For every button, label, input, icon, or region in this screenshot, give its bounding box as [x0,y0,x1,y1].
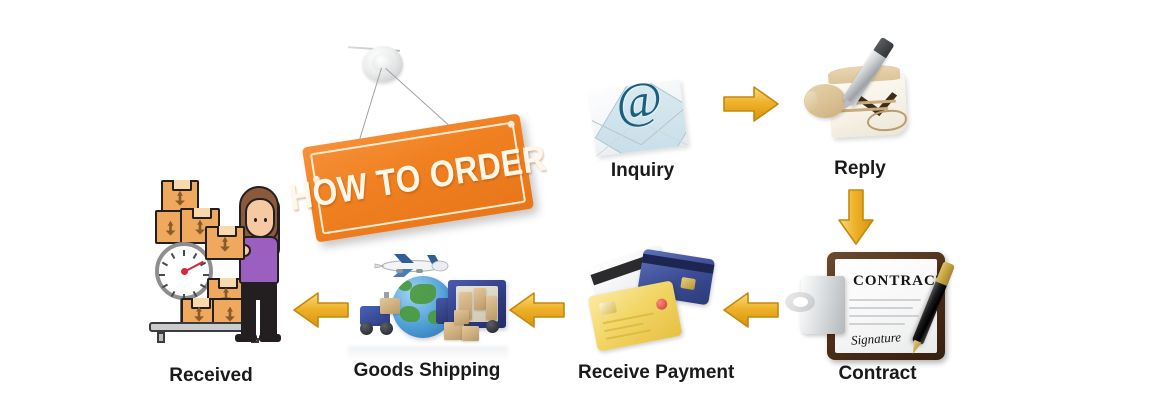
scale-tick [183,250,185,256]
worker-shoe [259,334,281,342]
card-magnetic-stripe [642,254,715,274]
scale-tick [203,274,209,276]
card-chip [680,277,696,290]
label-contract: Contract [805,363,950,385]
inquiry-envelope-at-icon: @ [580,55,705,155]
contract-line [849,315,919,317]
card-number-line [606,329,652,340]
scale-tick [159,274,165,276]
ground-box [462,326,479,341]
fragile-symbol-icon [164,221,177,236]
label-received: Received [150,365,272,387]
infographic-canvas: HOW TO ORDER @ Inquiry [0,0,1151,414]
sign-title: HOW TO ORDER [287,137,549,219]
arrow-payment-to-shipping [508,290,566,330]
scale-tick [200,284,206,289]
shipping-reflection [348,346,508,360]
label-reply: Reply [805,158,915,180]
reply-scroll-roll [804,84,846,118]
worker-face [245,198,275,238]
globe-landmass [398,280,412,291]
cargo-box [486,296,497,320]
forklift-icon [354,292,400,332]
receive-payment-cards-icon [588,248,703,358]
worker-eye [264,218,267,222]
arrow-reply-to-contract [836,188,876,246]
box-tape [192,208,212,219]
scale-tick [162,262,168,267]
worker-eye [254,218,257,222]
worker-legs [241,282,277,338]
goods-shipping-icon [348,248,508,358]
contract-line [849,299,921,301]
reply-scroll-pen-icon [800,48,920,148]
scale-needle-hub [181,268,188,275]
box-tape [172,180,192,191]
fragile-symbol-icon [219,237,232,252]
label-inquiry: Inquiry [580,160,705,182]
sign-hook-icon [363,46,403,82]
scale-tick [171,291,176,297]
scale-tick [162,284,168,289]
contract-line [849,323,905,325]
reply-signature-scribble [866,109,907,132]
forklift-wheel [360,322,373,335]
card-chip [599,301,617,316]
ground-box [454,310,469,324]
label-goods-shipping: Goods Shipping [346,360,508,382]
forklift-box [380,298,400,314]
scale-tick [171,253,176,259]
clipboard-ring [785,292,815,312]
scale-tick [193,253,198,259]
warehouse-worker-figure [229,186,291,336]
card-logo-dot [655,298,668,311]
contract-signature: Signature [851,329,902,348]
globe-landmass [400,306,420,322]
forklift-wheel [380,322,393,335]
arrow-contract-to-payment [722,290,780,330]
arrow-shipping-to-received [292,290,350,330]
contract-title: CONTRACT [853,273,937,290]
contract-clipboard-icon: CONTRACT Signature [805,250,950,365]
fragile-symbol-icon [174,191,187,206]
label-receive-payment: Receive Payment [578,362,718,384]
box-tape [217,226,237,237]
scale-tick [193,291,198,297]
cargo-box [474,288,486,310]
contract-line [849,307,913,309]
at-symbol: @ [613,69,665,131]
received-warehouse-icon [155,180,295,355]
globe-landmass [410,284,436,304]
arrow-inquiry-to-reply [722,84,780,124]
truck-wheel [486,320,499,333]
scale-leg [157,332,165,343]
sign-board: HOW TO ORDER [302,113,534,242]
worker-shoe [235,334,257,342]
box-tape [191,298,211,309]
airplane-icon [372,252,450,278]
card-number-line [603,312,654,324]
held-box [205,226,245,260]
ground-box [444,322,464,340]
how-to-order-sign: HOW TO ORDER [300,38,545,238]
sign-inner-frame: HOW TO ORDER [310,121,526,234]
